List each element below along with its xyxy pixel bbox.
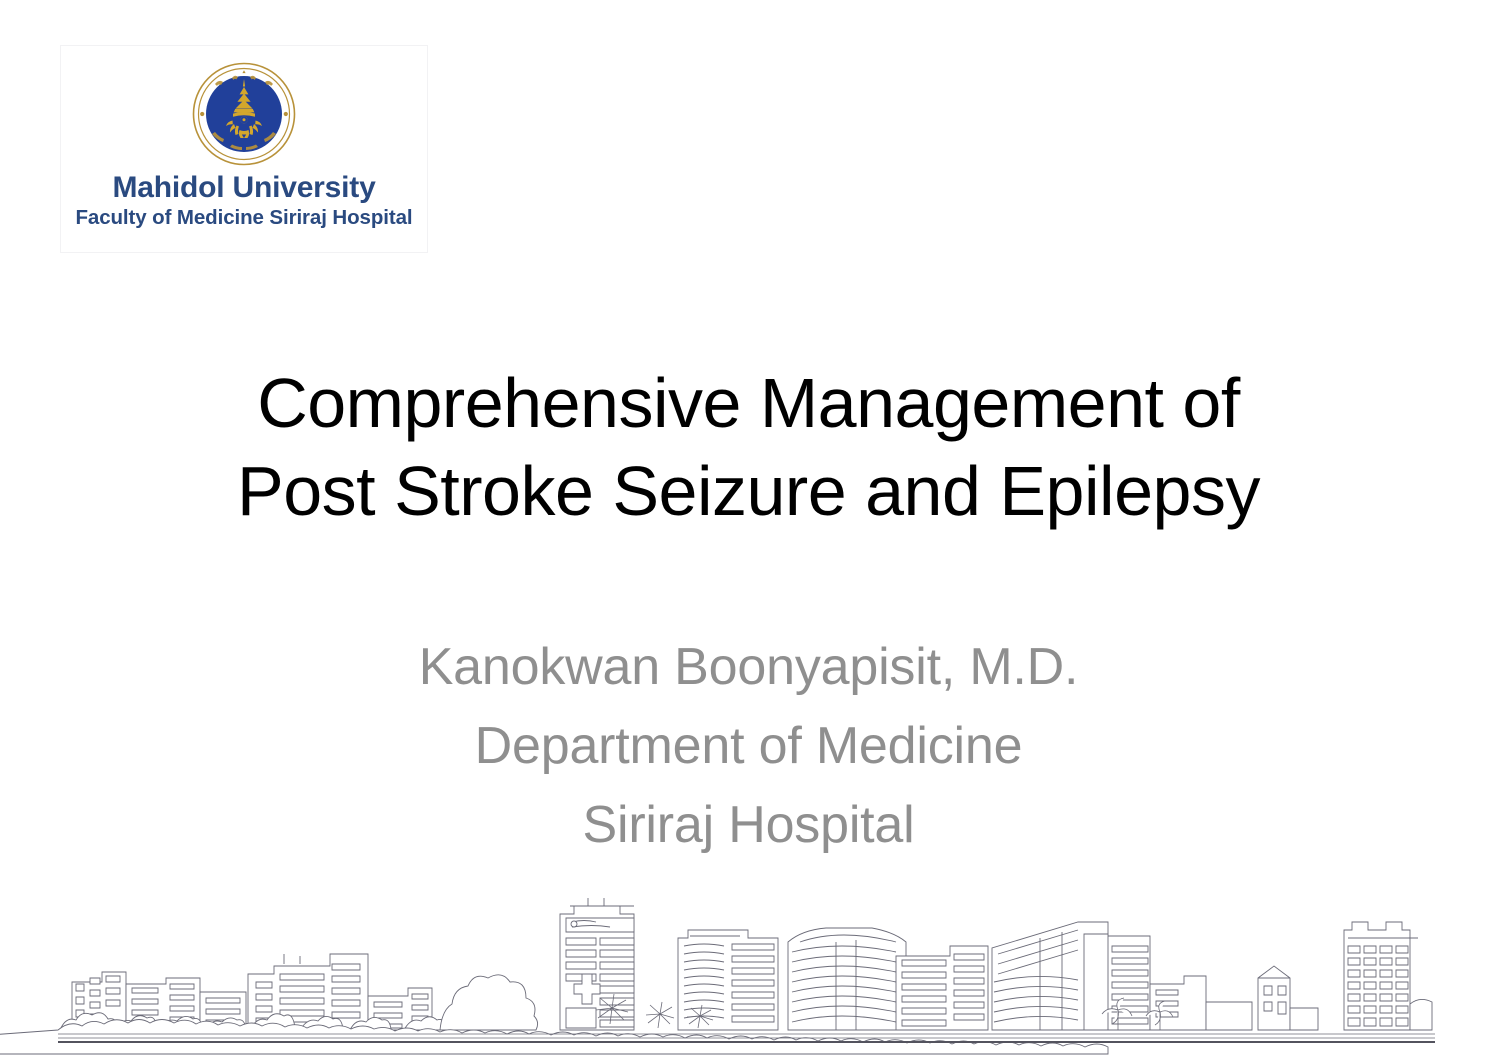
skyline-icon [0, 858, 1497, 1058]
logo-university-name: Mahidol University [112, 172, 375, 204]
university-logo-block: Mahidol University Faculty of Medicine S… [60, 45, 428, 253]
mahidol-seal-icon [192, 62, 296, 166]
campus-skyline-illustration [0, 858, 1497, 1058]
subtitle-department: Department of Medicine [0, 707, 1497, 786]
subtitle-presenter: Kanokwan Boonyapisit, M.D. [0, 628, 1497, 707]
title-line-2: Post Stroke Seizure and Epilepsy [0, 448, 1497, 536]
subtitle-institution: Siriraj Hospital [0, 786, 1497, 865]
title-line-1: Comprehensive Management of [0, 360, 1497, 448]
logo-faculty-name: Faculty of Medicine Siriraj Hospital [75, 207, 412, 229]
page-title: Comprehensive Management of Post Stroke … [0, 360, 1497, 535]
title-slide: Mahidol University Faculty of Medicine S… [0, 0, 1497, 1058]
subtitle: Kanokwan Boonyapisit, M.D. Department of… [0, 628, 1497, 865]
